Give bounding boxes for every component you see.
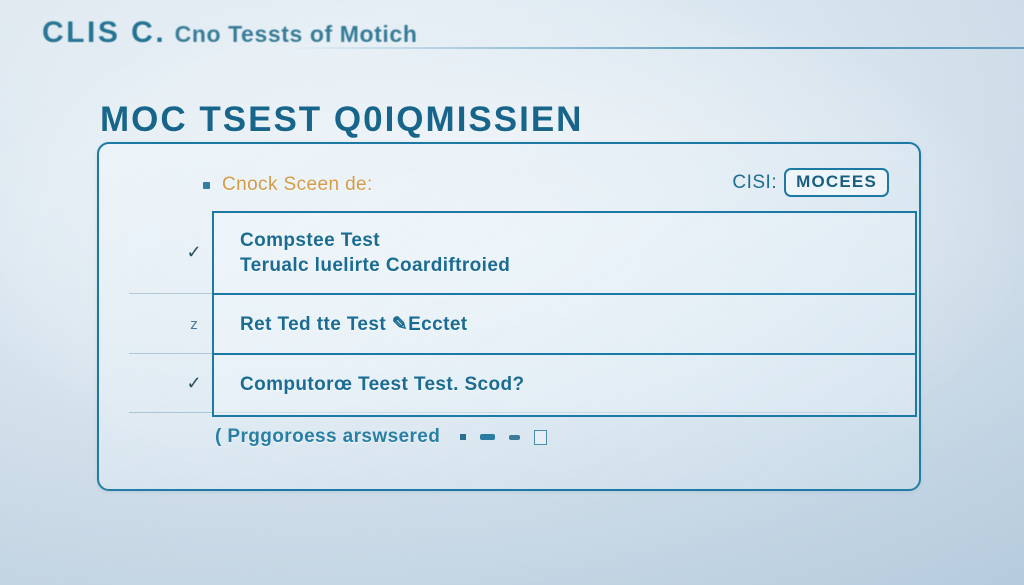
marker-column: ✓ z ✓ [132, 211, 212, 417]
status-group: CISI: MOCEES [732, 168, 889, 197]
list-item-title: Computorœ Teest Test. Scod? [240, 372, 525, 397]
section-label: Cnock Sceen de: [203, 174, 373, 196]
section-label-text: Cnock Sceen de: [222, 174, 373, 196]
list-item-text: Compstee Test Terualc luelirte Coardiftr… [240, 228, 510, 278]
status-label: CISI: [732, 172, 777, 194]
card-top-bar: Cnock Sceen de: CISI: MOCEES [99, 144, 919, 210]
app-brand: CLIS C. [42, 16, 166, 49]
dash-small-icon [509, 435, 520, 440]
list-item[interactable]: Ret Ted tte Test ✎Ecctet [214, 295, 915, 355]
empty-box-icon [534, 430, 547, 445]
dot-icon [460, 434, 466, 440]
list-item-subtitle: Terualc luelirte Coardiftroied [240, 253, 510, 278]
test-card: Cnock Sceen de: CISI: MOCEES ✓ z ✓ Comps… [97, 142, 921, 491]
status-badge[interactable]: MOCEES [784, 168, 889, 197]
app-header-title: CLIS C. Cno Tessts of Motich [42, 16, 417, 50]
check-icon[interactable]: ✓ [182, 374, 206, 392]
list-item[interactable]: Compstee Test Terualc luelirte Coardiftr… [214, 213, 915, 295]
letter-z-icon[interactable]: z [182, 316, 206, 334]
list-item-title: Compstee Test [240, 228, 510, 253]
progress-marks [460, 430, 547, 445]
check-icon[interactable]: ✓ [182, 243, 206, 261]
progress-text: ( Prggoroess arswsered [215, 426, 440, 448]
dash-icon [480, 434, 495, 440]
test-list-panel: Compstee Test Terualc luelirte Coardiftr… [212, 211, 917, 417]
square-bullet-icon [203, 182, 210, 189]
list-item[interactable]: Computorœ Teest Test. Scod? [214, 355, 915, 414]
page-title: MOC TSEST Q0IQMISSIEN [100, 100, 583, 140]
progress-row: ( Prggoroess arswsered [215, 426, 547, 448]
header-divider [0, 47, 1024, 49]
list-item-title: Ret Ted tte Test ✎Ecctet [240, 312, 468, 337]
app-header: CLIS C. Cno Tessts of Motich [0, 0, 1024, 52]
app-screen: CLIS C. Cno Tessts of Motich MOC TSEST Q… [0, 0, 1024, 585]
app-subtitle: Cno Tessts of Motich [175, 21, 418, 47]
